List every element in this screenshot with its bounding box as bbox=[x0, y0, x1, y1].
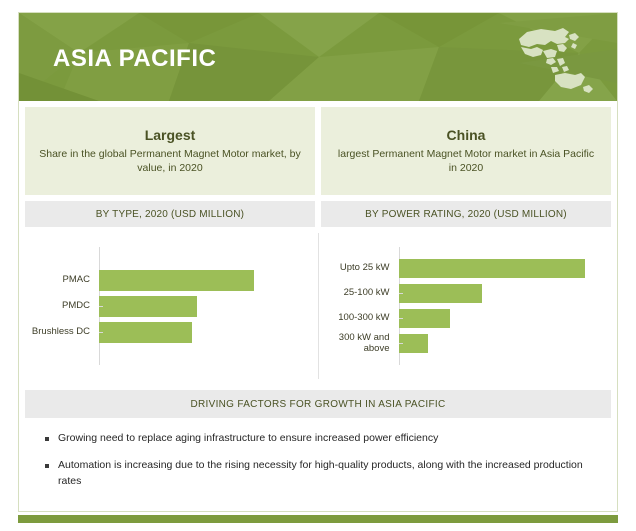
driving-factors-header: DRIVING FACTORS FOR GROWTH IN ASIA PACIF… bbox=[25, 390, 611, 418]
bar-category-label: 100-300 kW bbox=[319, 313, 399, 324]
bar-category-label: Brushless DC bbox=[19, 327, 99, 338]
bar-row: 300 kW and above bbox=[319, 331, 604, 356]
bar-chart-by-power-rating: Upto 25 kW 25-100 kW 100-300 kW bbox=[318, 233, 618, 379]
bar-value bbox=[99, 322, 192, 343]
bar-rows: Upto 25 kW 25-100 kW 100-300 kW bbox=[319, 243, 604, 369]
axis-tick bbox=[99, 332, 103, 333]
bar-track bbox=[399, 331, 604, 356]
driving-factors-list: Growing need to replace aging infrastruc… bbox=[25, 425, 611, 500]
bar-value bbox=[399, 259, 585, 278]
axis-tick bbox=[399, 318, 403, 319]
stat-card-china: China largest Permanent Magnet Motor mar… bbox=[321, 107, 611, 195]
bar-value bbox=[399, 334, 428, 353]
infographic-frame: ASIA PACIFIC bbox=[18, 12, 618, 512]
bar-track bbox=[399, 306, 604, 331]
list-item: Automation is increasing due to the risi… bbox=[39, 458, 597, 490]
stat-card-subtitle: Share in the global Permanent Magnet Mot… bbox=[39, 147, 301, 175]
bar-track bbox=[399, 281, 604, 306]
stat-cards-row: Largest Share in the global Permanent Ma… bbox=[19, 107, 617, 195]
infographic-page: ASIA PACIFIC bbox=[0, 0, 636, 531]
stat-card-title: Largest bbox=[145, 127, 196, 143]
axis-tick bbox=[99, 306, 103, 307]
stat-card-subtitle: largest Permanent Magnet Motor market in… bbox=[335, 147, 597, 175]
bullet-square-icon bbox=[45, 437, 49, 441]
bar-row: 25-100 kW bbox=[319, 281, 604, 306]
bar-category-label: PMDC bbox=[19, 301, 99, 312]
bar-track bbox=[99, 319, 304, 345]
chart-headers-row: BY TYPE, 2020 (USD MILLION) BY POWER RAT… bbox=[19, 201, 617, 227]
charts-row: PMAC PMDC Brushless DC bbox=[19, 233, 617, 379]
stat-card-title: China bbox=[447, 127, 486, 143]
bar-value bbox=[99, 296, 197, 317]
bullet-square-icon bbox=[45, 464, 49, 468]
bar-track bbox=[399, 256, 604, 281]
bar-row: PMDC bbox=[19, 293, 304, 319]
bar-row: 100-300 kW bbox=[319, 306, 604, 331]
axis-tick bbox=[399, 343, 403, 344]
axis-tick bbox=[399, 293, 403, 294]
bar-category-label: Upto 25 kW bbox=[319, 263, 399, 274]
bottom-accent-bar bbox=[18, 515, 618, 523]
bar-category-label: 25-100 kW bbox=[319, 288, 399, 299]
header-banner: ASIA PACIFIC bbox=[19, 13, 617, 101]
stat-card-largest: Largest Share in the global Permanent Ma… bbox=[25, 107, 315, 195]
bar-chart-by-type: PMAC PMDC Brushless DC bbox=[19, 233, 318, 379]
bar-value bbox=[399, 284, 482, 303]
chart-header-by-type: BY TYPE, 2020 (USD MILLION) bbox=[25, 201, 315, 227]
chart-header-by-power-rating: BY POWER RATING, 2020 (USD MILLION) bbox=[321, 201, 611, 227]
driving-factor-text: Growing need to replace aging infrastruc… bbox=[58, 431, 597, 447]
asia-pacific-map-icon bbox=[507, 23, 599, 95]
driving-factor-text: Automation is increasing due to the risi… bbox=[58, 458, 597, 490]
bar-track bbox=[99, 293, 304, 319]
bar-value bbox=[399, 309, 450, 328]
bar-row: PMAC bbox=[19, 267, 304, 293]
bar-category-label: PMAC bbox=[19, 275, 99, 286]
bar-rows: PMAC PMDC Brushless DC bbox=[19, 243, 304, 369]
bar-track bbox=[99, 267, 304, 293]
bar-row: Brushless DC bbox=[19, 319, 304, 345]
bar-row: Upto 25 kW bbox=[319, 256, 604, 281]
bar-value bbox=[99, 270, 254, 291]
bar-category-label: 300 kW and above bbox=[319, 333, 399, 355]
list-item: Growing need to replace aging infrastruc… bbox=[39, 431, 597, 447]
page-title: ASIA PACIFIC bbox=[53, 45, 216, 73]
